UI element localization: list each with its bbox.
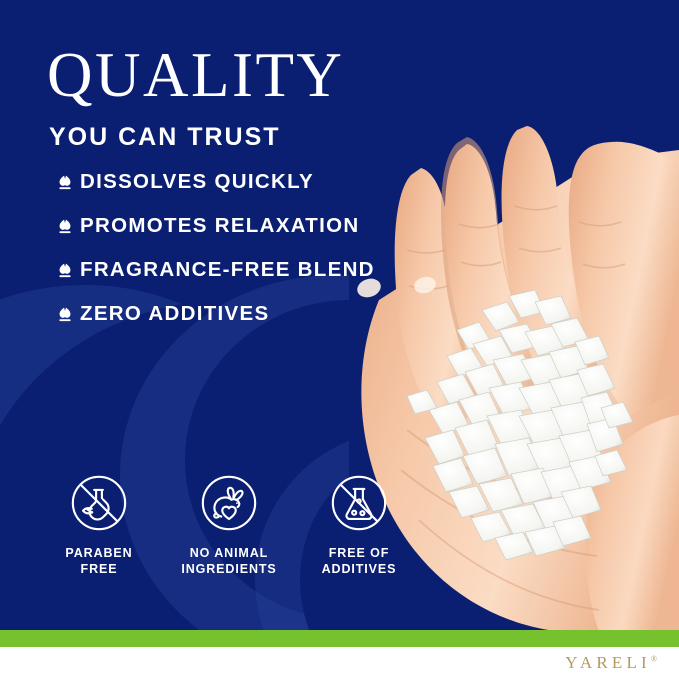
brand-wordmark: YARELI® xyxy=(565,653,657,673)
list-item-label: DISSOLVES QUICKLY xyxy=(80,170,314,194)
badge-free-of-additives: FREE OF ADDITIVES xyxy=(294,472,424,577)
list-item: FRAGRANCE-FREE BLEND xyxy=(55,248,375,292)
double-petal-bullet-icon xyxy=(55,304,75,324)
page-subtitle: YOU CAN TRUST xyxy=(49,123,344,152)
navy-panel: QUALITY YOU CAN TRUST DISSOLVES QUICKLY xyxy=(0,0,679,630)
list-item: DISSOLVES QUICKLY xyxy=(55,160,375,204)
double-petal-bullet-icon xyxy=(55,172,75,192)
list-item-label: ZERO ADDITIVES xyxy=(80,302,269,326)
badge-label: FREE OF ADDITIVES xyxy=(322,545,397,577)
flask-bubbles-no-additives-icon xyxy=(328,472,390,534)
trust-badge-row: PARABEN FREE xyxy=(34,472,424,577)
headline-block: QUALITY YOU CAN TRUST xyxy=(47,44,344,152)
badge-label-line1: PARABEN xyxy=(65,546,132,560)
green-divider-stripe xyxy=(0,630,679,647)
flask-leaf-no-parabens-icon xyxy=(68,472,130,534)
list-item: ZERO ADDITIVES xyxy=(55,292,375,336)
rabbit-heart-cruelty-free-icon xyxy=(198,472,260,534)
list-item-label: PROMOTES RELAXATION xyxy=(80,214,359,238)
badge-no-animal-ingredients: NO ANIMAL INGREDIENTS xyxy=(164,472,294,577)
double-petal-bullet-icon xyxy=(55,260,75,280)
list-item: PROMOTES RELAXATION xyxy=(55,204,375,248)
badge-label-line2: FREE xyxy=(81,562,118,576)
badge-label: NO ANIMAL INGREDIENTS xyxy=(181,545,276,577)
registered-trademark-icon: ® xyxy=(651,654,657,663)
list-item-label: FRAGRANCE-FREE BLEND xyxy=(80,258,375,282)
badge-label-line2: INGREDIENTS xyxy=(181,562,276,576)
badge-label-line2: ADDITIVES xyxy=(322,562,397,576)
badge-label: PARABEN FREE xyxy=(65,545,132,577)
page-title: QUALITY xyxy=(47,44,344,107)
background-swoosh-shape xyxy=(0,285,320,630)
footer-bar: YARELI® xyxy=(0,647,679,679)
badge-label-line1: FREE OF xyxy=(329,546,389,560)
feature-list: DISSOLVES QUICKLY PROMOTES RELAXATION FR… xyxy=(55,160,375,336)
brand-name: YARELI xyxy=(565,653,651,672)
double-petal-bullet-icon xyxy=(55,216,75,236)
badge-label-line1: NO ANIMAL xyxy=(190,546,268,560)
badge-paraben-free: PARABEN FREE xyxy=(34,472,164,577)
product-infographic: QUALITY YOU CAN TRUST DISSOLVES QUICKLY xyxy=(0,0,679,679)
